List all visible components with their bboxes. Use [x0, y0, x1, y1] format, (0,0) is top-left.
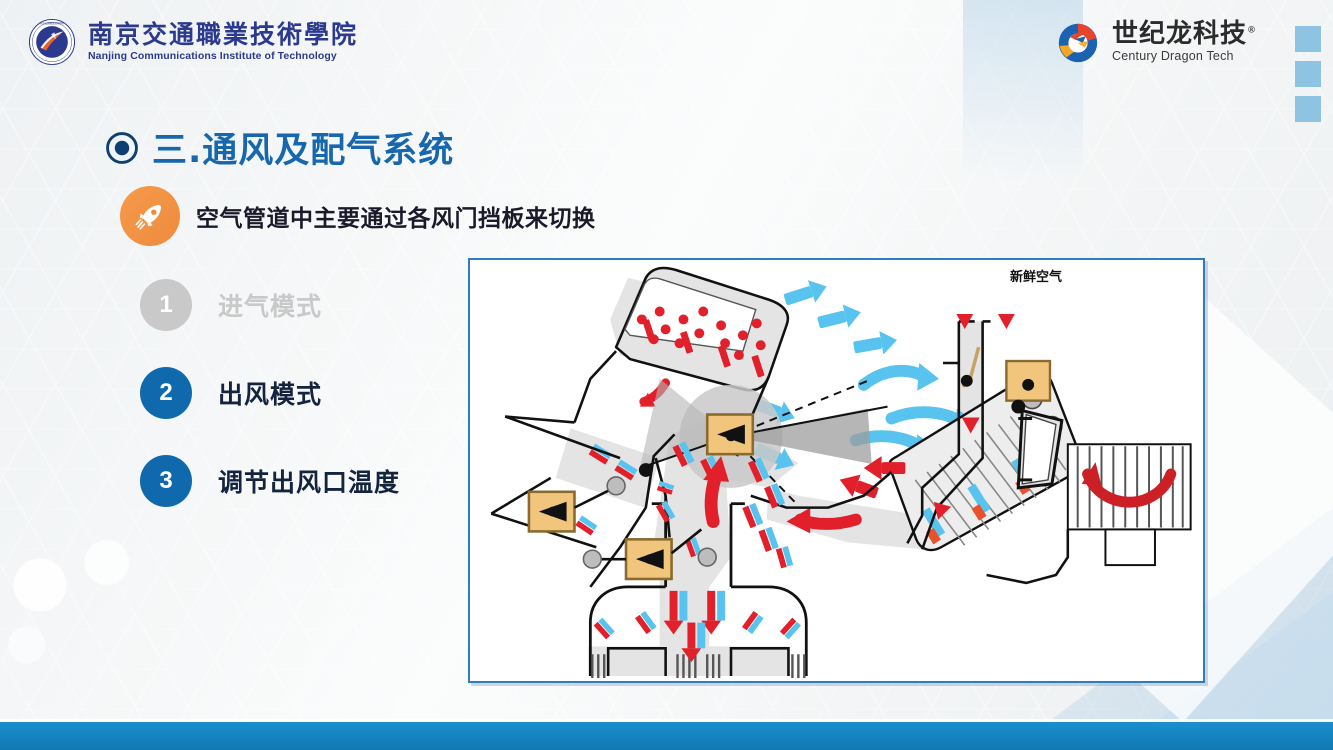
century-dragon-logo-icon: [1054, 18, 1102, 66]
step-label-1: 进气模式: [218, 287, 322, 323]
step-label-2: 出风模式: [218, 375, 322, 411]
rocket-icon: [133, 199, 167, 233]
subtitle-row: 空气管道中主要通过各风门挡板来切换: [120, 186, 596, 246]
fresh-air-label: 新鲜空气: [1010, 266, 1062, 285]
hvac-air-distribution-diagram: [470, 260, 1203, 681]
slide-root: 南京交通職業技術學院 南京交通職業技術學院 Nanjing Communicat…: [0, 0, 1333, 750]
decor-square-2: [1295, 61, 1321, 87]
step-number-badge-2: 2: [140, 367, 192, 419]
company-name-en: Century Dragon Tech: [1112, 49, 1257, 63]
page-title: 三.通风及配气系统: [152, 122, 454, 173]
step-item-2[interactable]: 2 出风模式: [140, 367, 400, 419]
blower-fan: [1068, 444, 1191, 565]
step-number-badge-1: 1: [140, 279, 192, 331]
step-number-badge-3: 3: [140, 455, 192, 507]
rocket-icon-badge: [120, 186, 180, 246]
university-seal-icon: 南京交通職業技術學院: [28, 18, 76, 66]
university-name-en: Nanjing Communications Institute of Tech…: [88, 50, 358, 62]
step-item-1[interactable]: 1 进气模式: [140, 279, 400, 331]
university-branding: 南京交通職業技術學院 南京交通職業技術學院 Nanjing Communicat…: [28, 18, 358, 66]
footer-bar: [0, 722, 1333, 750]
registered-mark: ®: [1247, 26, 1257, 36]
defroster-duct: [616, 268, 788, 407]
bullseye-icon: [105, 131, 139, 165]
svg-text:南京交通職業技術學院: 南京交通職業技術學院: [40, 21, 65, 25]
step-item-3[interactable]: 3 调节出风口温度: [140, 455, 400, 507]
hvac-diagram-panel: 新鲜空气: [468, 258, 1205, 683]
decor-square-1: [1295, 26, 1321, 52]
slide-title-row: 三.通风及配气系统: [105, 122, 454, 173]
step-label-3: 调节出风口温度: [218, 463, 400, 499]
decor-square-3: [1295, 96, 1321, 122]
subtitle-text: 空气管道中主要通过各风门挡板来切换: [196, 199, 596, 233]
decor-blue-squares: [1295, 26, 1321, 122]
company-branding: 世纪龙科技® Century Dragon Tech: [1054, 18, 1257, 66]
university-name-cn: 南京交通職業技術學院: [88, 22, 358, 48]
company-name-cn: 世纪龙科技: [1112, 19, 1247, 49]
mode-step-list: 1 进气模式 2 出风模式 3 调节出风口温度: [140, 279, 400, 507]
